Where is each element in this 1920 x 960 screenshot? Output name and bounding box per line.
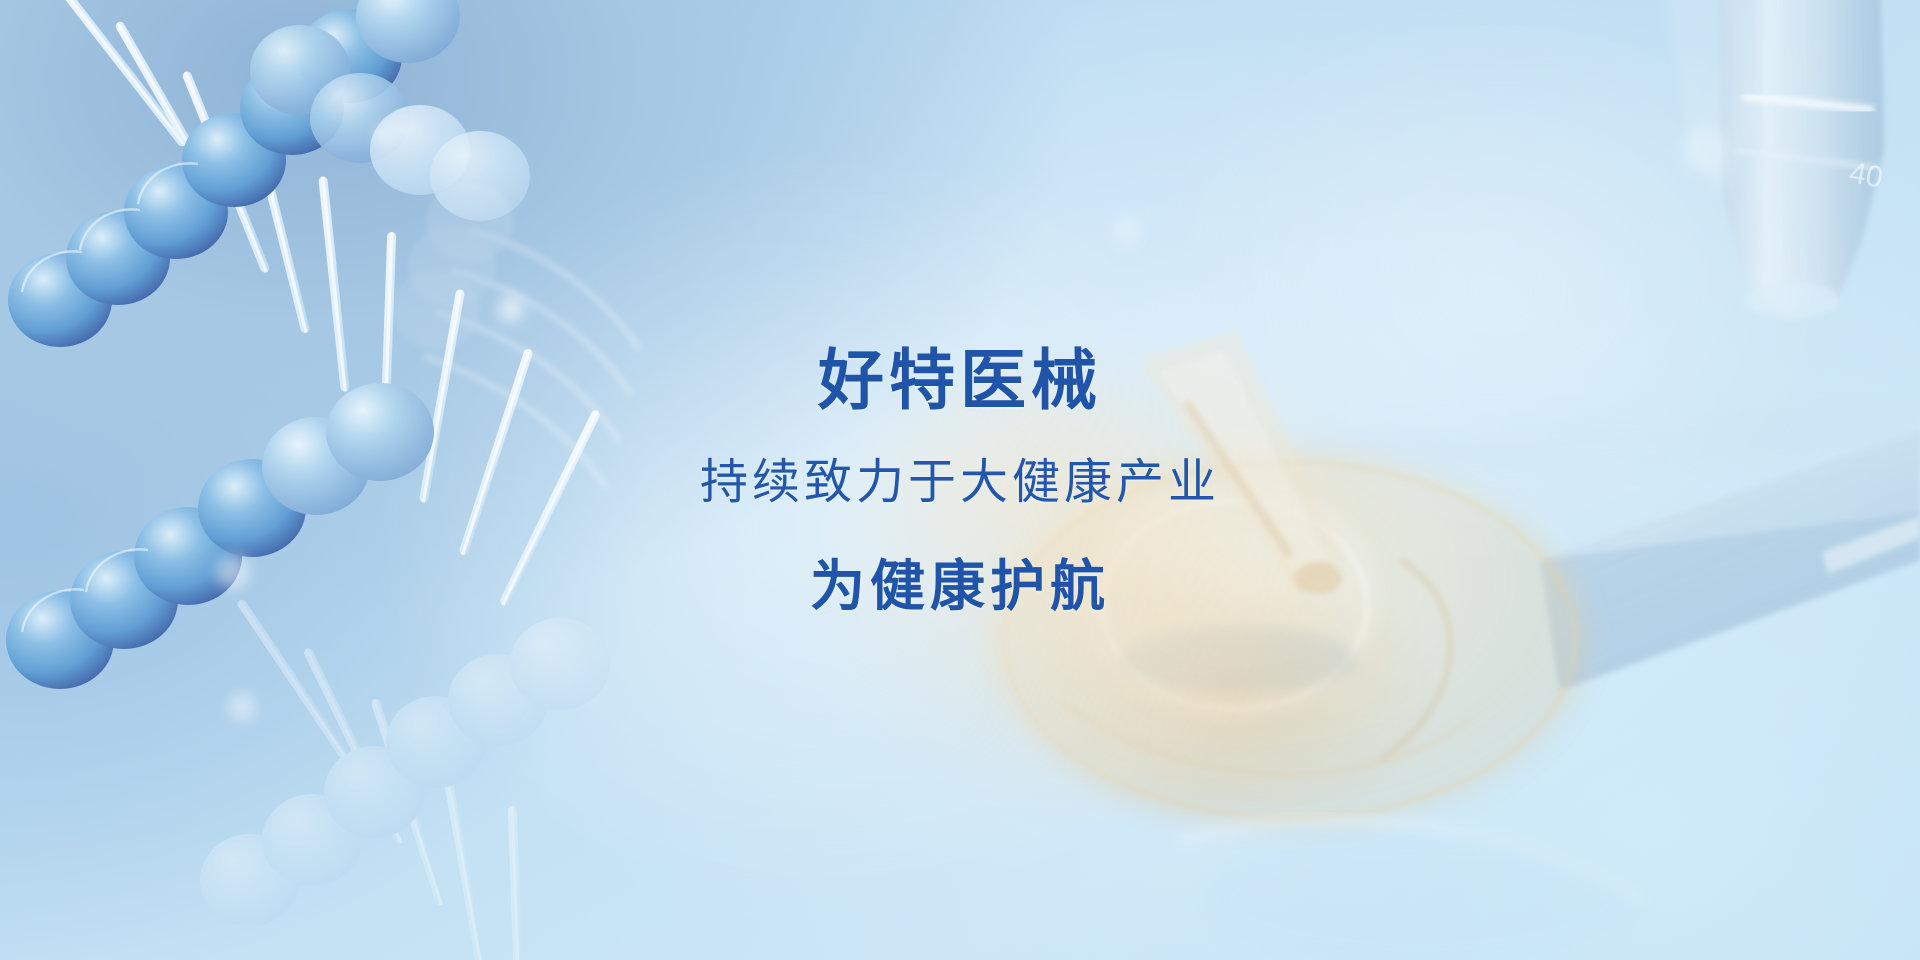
hero-banner: 40 [0,0,1920,960]
banner-title: 好特医械 [818,347,1102,413]
banner-subtitle: 持续致力于大健康产业 [700,459,1220,507]
banner-copy: 好特医械 持续致力于大健康产业 为健康护航 [0,0,1920,960]
banner-tagline: 为健康护航 [810,559,1110,614]
